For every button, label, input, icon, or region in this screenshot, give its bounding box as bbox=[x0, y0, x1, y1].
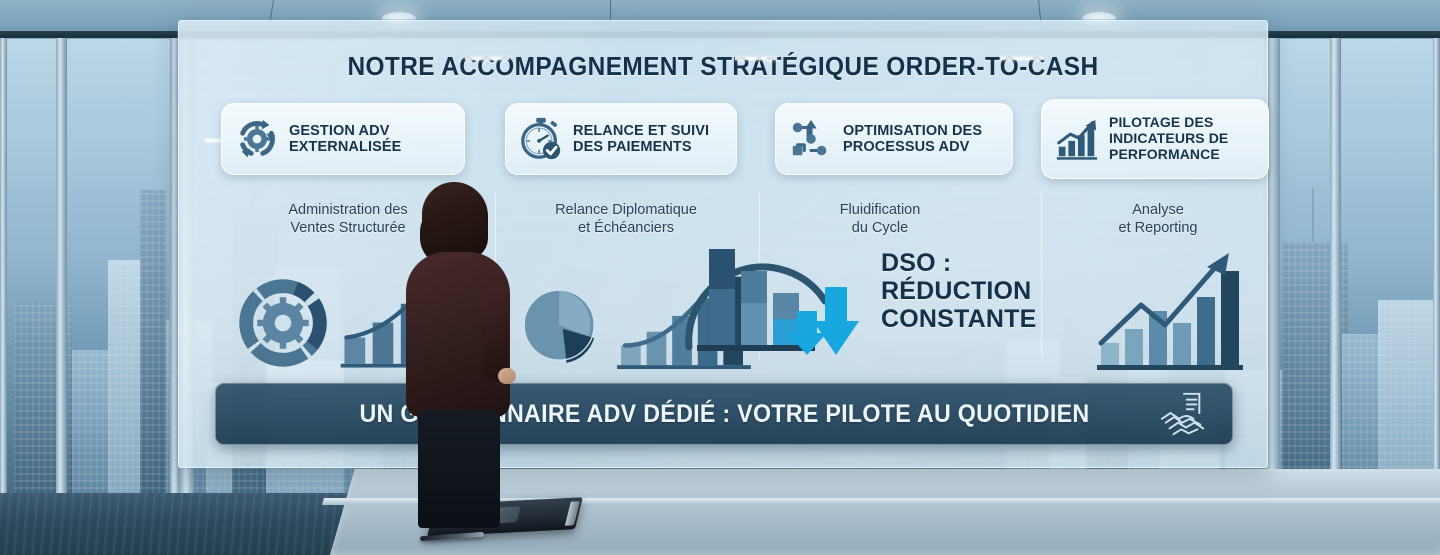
card-relance-paiements[interactable]: RELANCE ET SUIVI DES PAIEMENTS bbox=[505, 103, 737, 175]
card-label: RELANCE ET SUIVI DES PAIEMENTS bbox=[573, 123, 709, 155]
card-connector bbox=[735, 57, 777, 60]
presentation-panel: NOTRE ACCOMPAGNEMENT STRATÉGIQUE ORDER-T… bbox=[178, 20, 1268, 468]
presenter-figure bbox=[396, 182, 514, 522]
process-flow-arrow-icon bbox=[788, 116, 834, 162]
pillar-card-row: GESTION ADV EXTERNALISÉE bbox=[215, 103, 1233, 175]
card-label: GESTION ADV EXTERNALISÉE bbox=[289, 123, 401, 155]
handshake-document-icon bbox=[1158, 390, 1208, 440]
page-title: NOTRE ACCOMPAGNEMENT STRATÉGIQUE ORDER-T… bbox=[212, 51, 1235, 82]
card-gestion-adv[interactable]: GESTION ADV EXTERNALISÉE bbox=[221, 103, 465, 175]
pie-chart-icon bbox=[515, 281, 607, 373]
card-connector bbox=[1001, 57, 1043, 60]
bottom-banner[interactable]: UN GESTIONNAIRE ADV DÉDIÉ : VOTRE PILOTE… bbox=[215, 383, 1233, 445]
card-pilotage-indicateurs[interactable]: PILOTAGE DES INDICATEURS DE PERFORMANCE bbox=[1041, 99, 1269, 179]
circular-arrows-gear-icon bbox=[234, 116, 280, 162]
card-label: PILOTAGE DES INDICATEURS DE PERFORMANCE bbox=[1109, 115, 1228, 162]
bar-chart-trend-icon bbox=[1054, 116, 1100, 162]
dso-label: DSO : RÉDUCTION CONSTANTE bbox=[881, 249, 1037, 333]
donut-gear-icon bbox=[237, 273, 329, 373]
declining-bars-down-arrow-icon bbox=[675, 227, 875, 373]
chart-col4-performance bbox=[1095, 243, 1245, 373]
zigzag-bar-chart-icon bbox=[1095, 247, 1245, 373]
card-connector bbox=[465, 57, 509, 60]
card-optimisation-processus[interactable]: OPTIMISATION DES PROCESSUS ADV bbox=[775, 103, 1013, 175]
dso-highlight: DSO : RÉDUCTION CONSTANTE bbox=[675, 227, 1075, 377]
stopwatch-check-icon bbox=[518, 116, 564, 162]
office-scene: NOTRE ACCOMPAGNEMENT STRATÉGIQUE ORDER-T… bbox=[0, 0, 1440, 555]
card-label: OPTIMISATION DES PROCESSUS ADV bbox=[843, 123, 982, 155]
sub-analyse: Analyse et Reporting bbox=[1053, 201, 1263, 237]
